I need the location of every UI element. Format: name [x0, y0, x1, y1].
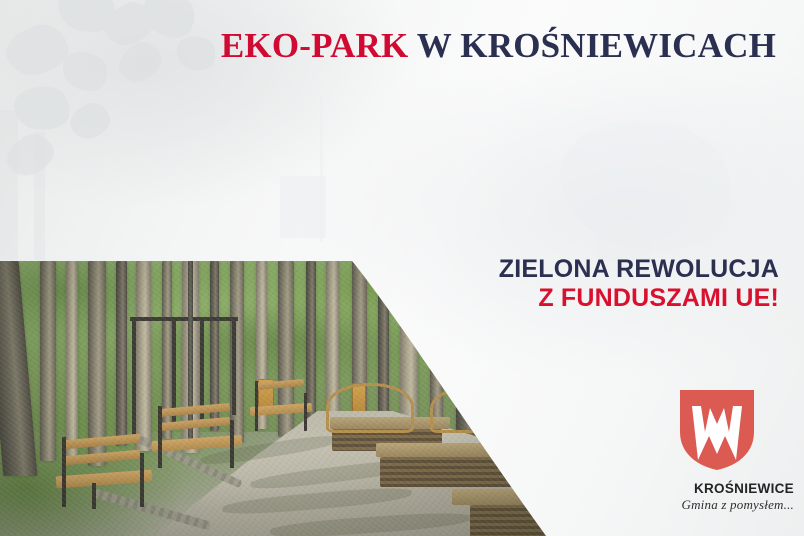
- background-structure: [596, 200, 650, 262]
- coat-of-arms-shield-icon: [678, 388, 756, 472]
- headline-eko-park: EKO-PARK: [221, 26, 409, 65]
- municipality-logo: KROŚNIEWICE Gmina z pomysłem...: [648, 383, 804, 523]
- logo-text-block: KROŚNIEWICE Gmina z pomysłem...: [648, 481, 794, 513]
- poster-subtitle: ZIELONA REWOLUCJA Z FUNDUSZAMI UE!: [499, 255, 779, 314]
- subtitle-line-1: ZIELONA REWOLUCJA: [499, 255, 779, 284]
- logo-tagline: Gmina z pomysłem...: [648, 497, 794, 513]
- poster-canvas: EKO-PARK W KROŚNIEWICACH ZIELONA REWOLUC…: [0, 0, 804, 536]
- headline-location: W KROŚNIEWICACH: [408, 26, 776, 65]
- logo-municipality-name: KROŚNIEWICE: [648, 481, 794, 496]
- background-pole: [320, 96, 323, 242]
- poster-headline: EKO-PARK W KROŚNIEWICACH: [0, 28, 776, 63]
- subtitle-line-2: Z FUNDUSZAMI UE!: [499, 284, 779, 313]
